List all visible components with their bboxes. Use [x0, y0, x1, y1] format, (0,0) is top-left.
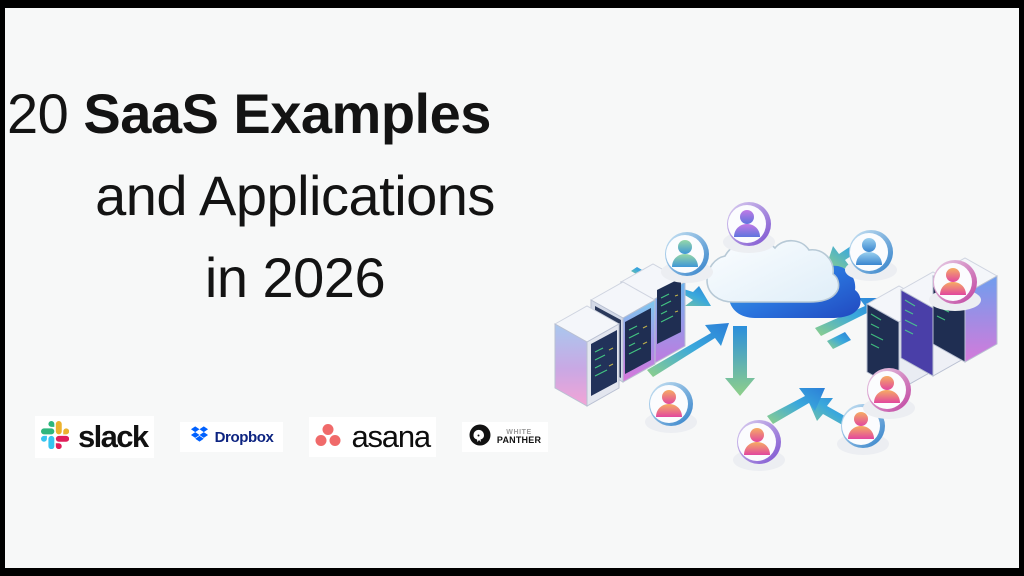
user-avatar — [733, 420, 785, 471]
dropbox-wordmark: Dropbox — [215, 429, 274, 446]
slack-hash-icon — [41, 421, 69, 454]
dropbox-box-icon — [190, 425, 209, 449]
banner-canvas: 20 SaaS Examples and Applications in 202… — [5, 8, 1019, 568]
gradient-arrow — [725, 326, 755, 396]
headline-line-3: in 2026 — [5, 250, 585, 306]
user-avatar — [845, 230, 897, 281]
user-avatar — [645, 382, 697, 433]
cloud-icon — [707, 240, 861, 318]
headline-line-1: 20 SaaS Examples — [5, 86, 585, 142]
user-avatar — [661, 232, 713, 283]
headline-emphasis: SaaS Examples — [83, 82, 491, 145]
panther-head-icon — [469, 424, 491, 451]
asana-wordmark: asana — [351, 419, 429, 455]
cloud-computing-illustration — [515, 178, 1015, 528]
headline-line-2: and Applications — [5, 168, 585, 224]
logo-asana: asana — [309, 417, 435, 457]
headline-count: 20 — [7, 82, 83, 145]
logo-slack: slack — [35, 416, 154, 458]
user-avatar — [723, 202, 775, 253]
asana-three-dots-icon — [315, 423, 341, 452]
slack-wordmark: slack — [78, 419, 148, 455]
brand-logo-strip: slack Dropbox asana — [35, 416, 548, 458]
logo-dropbox: Dropbox — [180, 422, 284, 452]
page-title: 20 SaaS Examples and Applications in 202… — [5, 86, 585, 306]
